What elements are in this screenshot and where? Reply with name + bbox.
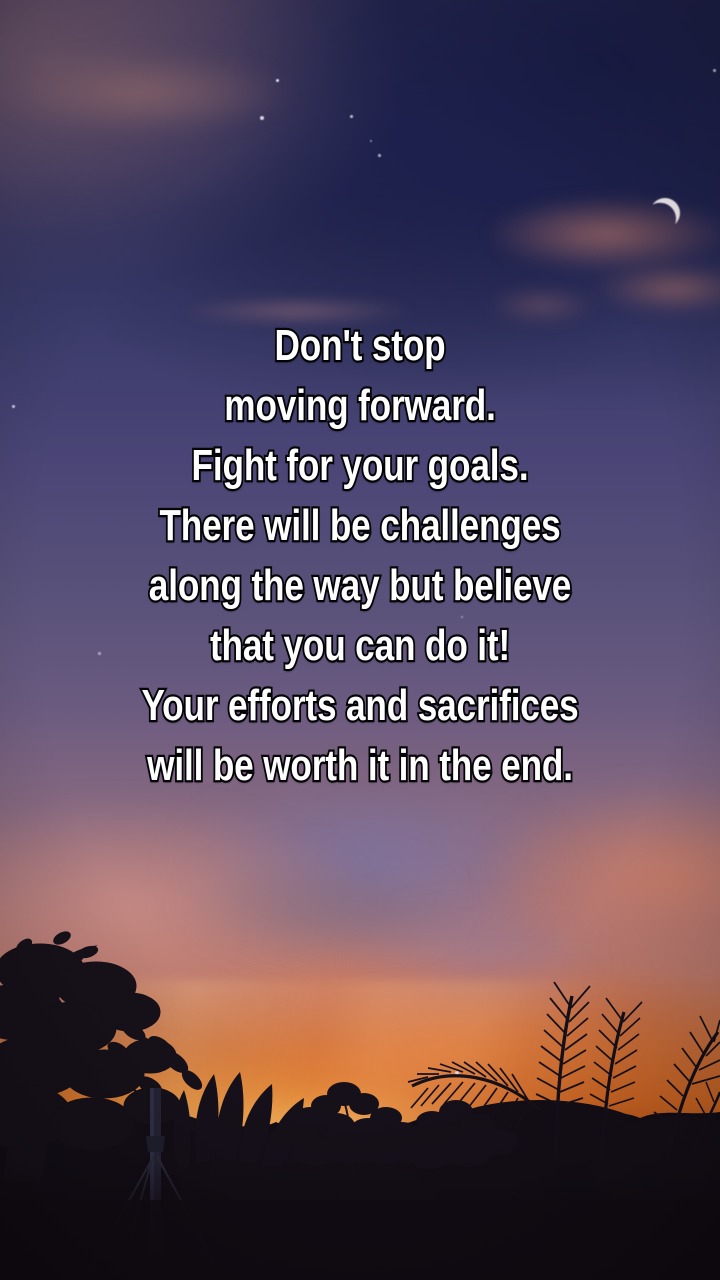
quote-line: Your efforts and sacrifices (72, 676, 648, 736)
quote-line: that you can do it! (72, 616, 648, 676)
quote-line: Don't stop (72, 316, 648, 376)
quote-line: moving forward. (72, 376, 648, 436)
quote-line: will be worth it in the end. (72, 736, 648, 796)
quote-line: along the way but believe (72, 556, 648, 616)
quote-block: Don't stop moving forward. Fight for you… (0, 316, 720, 796)
quote-wallpaper: Don't stop moving forward. Fight for you… (0, 0, 720, 1280)
quote-line: Fight for your goals. (72, 436, 648, 496)
quote-line: There will be challenges (72, 496, 648, 556)
